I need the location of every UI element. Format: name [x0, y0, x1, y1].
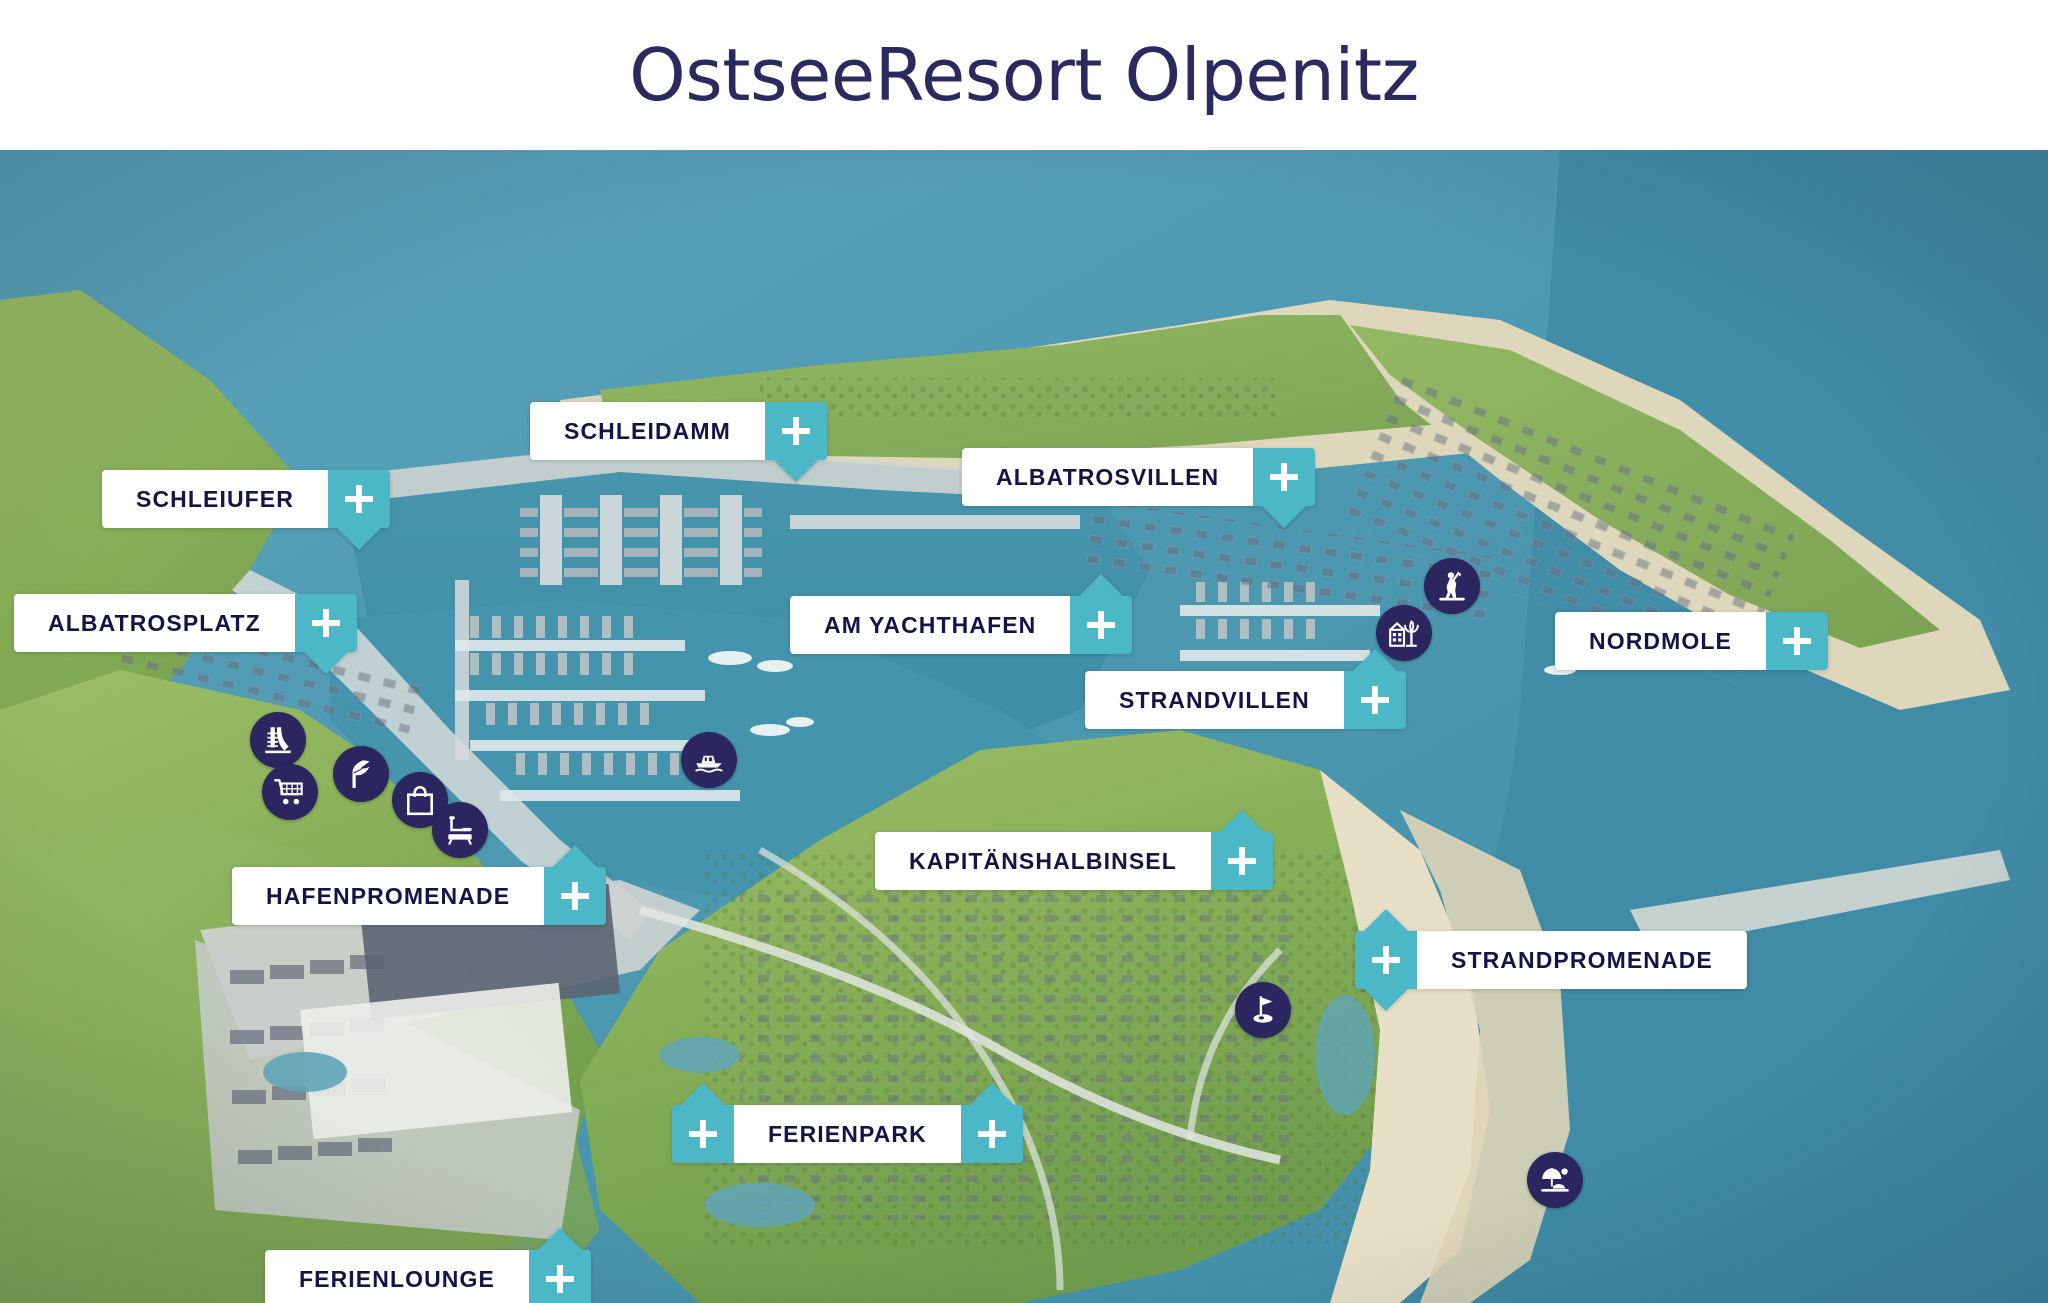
hotspot-am-yachthafen[interactable]: AM YACHTHAFEN — [790, 596, 1132, 654]
hotspot-nordmole[interactable]: NORDMOLE — [1555, 612, 1828, 670]
hotspot-label-ferienlounge: FERIENLOUNGE — [265, 1250, 529, 1303]
pointer-tip-up — [681, 1083, 725, 1105]
plus-icon — [1270, 463, 1298, 491]
plus-icon — [1783, 627, 1811, 655]
hotspot-albatrosvillen[interactable]: ALBATROSVILLEN — [962, 448, 1315, 506]
plus-icon — [312, 609, 340, 637]
hotspot-plus-ferienlounge[interactable] — [529, 1250, 591, 1303]
hotspot-label-strandvillen: STRANDVILLEN — [1085, 671, 1344, 729]
hotspot-plus-schleiufer[interactable] — [328, 470, 390, 528]
beach-umbrella-icon — [1538, 1163, 1572, 1197]
paddle-board-icon — [1435, 569, 1469, 603]
plus-icon — [689, 1120, 717, 1148]
pointer-tip-down — [1364, 989, 1408, 1011]
flag-f-icon — [344, 757, 378, 791]
hotspot-hafenpromenade[interactable]: HAFENPROMENADE — [232, 867, 606, 925]
plus-icon — [1087, 611, 1115, 639]
hotspot-plus-nordmole[interactable] — [1766, 612, 1828, 670]
plus-icon — [345, 485, 373, 513]
pointer-tip-down — [774, 460, 818, 482]
hotspot-plus-strandvillen[interactable] — [1344, 671, 1406, 729]
poi-beach[interactable] — [1527, 1152, 1583, 1208]
hotspot-label-albatrosplatz: ALBATROSPLATZ — [14, 594, 295, 652]
shopping-bag-icon — [403, 783, 437, 817]
shopping-cart-icon — [273, 775, 307, 809]
golf-flag-icon — [1246, 993, 1280, 1027]
pointer-tip-up — [1220, 810, 1264, 832]
plus-icon — [561, 882, 589, 910]
pointer-tip-down — [1262, 506, 1306, 528]
hotspot-plus-kapitaenshalbinsel[interactable] — [1211, 832, 1273, 890]
poi-grill[interactable] — [432, 802, 488, 858]
water-slide-icon — [261, 723, 295, 757]
plus-icon — [978, 1120, 1006, 1148]
hotspot-plus-schleidamm[interactable] — [765, 402, 827, 460]
hotspot-plus-ferienpark-left[interactable] — [672, 1105, 734, 1163]
hotspot-label-nordmole: NORDMOLE — [1555, 612, 1766, 670]
plus-icon — [1372, 946, 1400, 974]
page-header: OstseeResort Olpenitz — [0, 0, 2048, 150]
hotspot-albatrosplatz[interactable]: ALBATROSPLATZ — [14, 594, 357, 652]
hotspot-label-albatrosvillen: ALBATROSVILLEN — [962, 448, 1253, 506]
hotspot-schleidamm[interactable]: SCHLEIDAMM — [530, 402, 827, 460]
hotspot-label-schleiufer: SCHLEIUFER — [102, 470, 328, 528]
hotspot-label-schleidamm: SCHLEIDAMM — [530, 402, 765, 460]
poi-golf[interactable] — [1235, 982, 1291, 1038]
pointer-tip-up — [970, 1083, 1014, 1105]
hotspot-plus-strandpromenade[interactable] — [1355, 931, 1417, 989]
pointer-tip-up — [538, 1228, 582, 1250]
poi-boat[interactable] — [681, 732, 737, 788]
hotspot-ferienlounge[interactable]: FERIENLOUNGE — [265, 1250, 591, 1303]
motorboat-icon — [692, 743, 726, 777]
resort-map[interactable]: SCHLEIDAMM ALBATROSVILLEN SCHLEIUFER ALB… — [0, 150, 2048, 1303]
poi-paddle-board[interactable] — [1424, 558, 1480, 614]
hotspot-kapitaenshalbinsel[interactable]: KAPITÄNSHALBINSEL — [875, 832, 1273, 890]
hotspot-label-strandpromenade: STRANDPROMENADE — [1417, 931, 1747, 989]
hotspot-strandvillen[interactable]: STRANDVILLEN — [1085, 671, 1406, 729]
poi-market[interactable] — [1376, 605, 1432, 661]
pointer-tip-up — [1364, 909, 1408, 931]
hotspot-plus-hafenpromenade[interactable] — [544, 867, 606, 925]
poi-water-slide[interactable] — [250, 712, 306, 768]
plus-icon — [1361, 686, 1389, 714]
pointer-tip-up — [1079, 574, 1123, 596]
hotspot-ferienpark[interactable]: FERIENPARK — [672, 1105, 1023, 1163]
hotspot-label-hafenpromenade: HAFENPROMENADE — [232, 867, 544, 925]
hotspot-schleiufer[interactable]: SCHLEIUFER — [102, 470, 390, 528]
pointer-tip-down — [337, 528, 381, 550]
plus-icon — [782, 417, 810, 445]
market-hall-icon — [1387, 616, 1421, 650]
hotspot-label-ferienpark: FERIENPARK — [734, 1105, 961, 1163]
poi-shopping-cart[interactable] — [262, 764, 318, 820]
resort-map-page: OstseeResort Olpenitz — [0, 0, 2048, 1303]
hotspot-strandpromenade[interactable]: STRANDPROMENADE — [1355, 931, 1747, 989]
hotspot-plus-albatrosvillen[interactable] — [1253, 448, 1315, 506]
hotspot-plus-am-yachthafen[interactable] — [1070, 596, 1132, 654]
hotspot-plus-ferienpark-right[interactable] — [961, 1105, 1023, 1163]
grill-bbq-icon — [443, 813, 477, 847]
poi-fitness[interactable] — [333, 746, 389, 802]
page-title: OstseeResort Olpenitz — [629, 33, 1419, 117]
plus-icon — [1228, 847, 1256, 875]
hotspot-label-am-yachthafen: AM YACHTHAFEN — [790, 596, 1070, 654]
hotspot-plus-albatrosplatz[interactable] — [295, 594, 357, 652]
pointer-tip-down — [304, 652, 348, 674]
pointer-tip-up — [553, 845, 597, 867]
aerial-map-image — [0, 150, 2048, 1303]
plus-icon — [546, 1265, 574, 1293]
hotspot-label-kapitaenshalbinsel: KAPITÄNSHALBINSEL — [875, 832, 1211, 890]
